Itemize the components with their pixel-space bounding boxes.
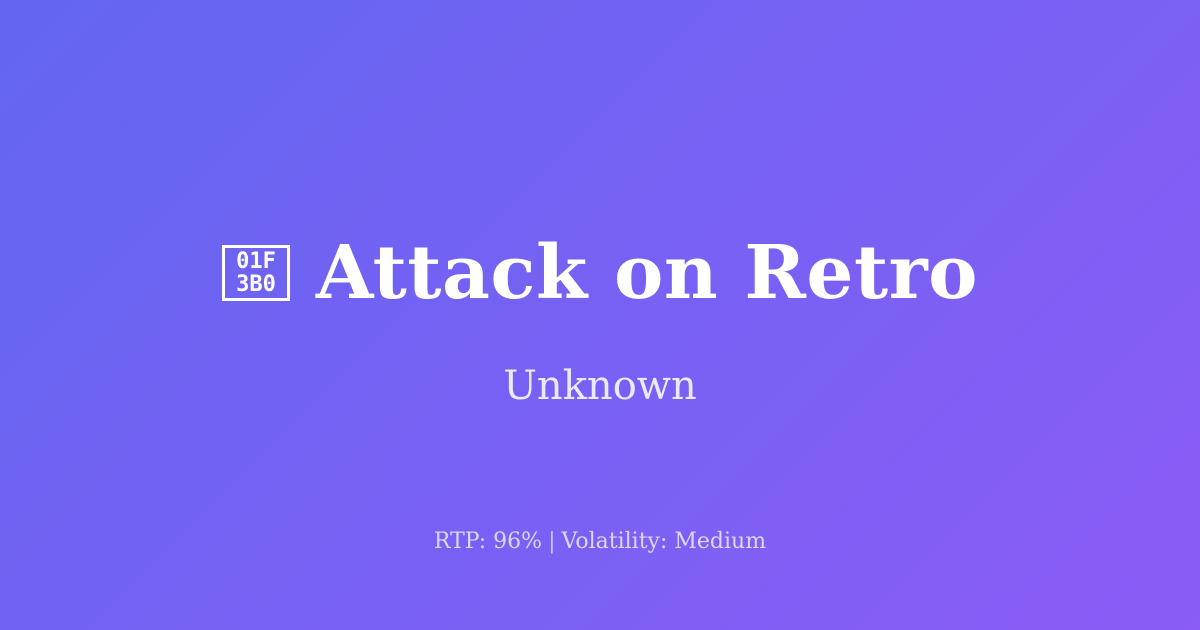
page-title: Attack on Retro <box>316 236 978 310</box>
rtp-value: RTP: 96% <box>434 529 542 554</box>
title-row: 01F 3B0 Attack on Retro <box>0 236 1200 310</box>
provider-label: Unknown <box>0 362 1200 410</box>
game-og-card: 01F 3B0 Attack on Retro Unknown RTP: 96%… <box>0 0 1200 630</box>
slot-machine-icon: 01F 3B0 <box>222 245 290 301</box>
tofu-codepoint-bottom: 3B0 <box>236 273 276 296</box>
volatility-value: Volatility: Medium <box>562 529 767 554</box>
game-meta: RTP: 96%|Volatility: Medium <box>0 528 1200 557</box>
meta-separator: | <box>542 529 561 554</box>
tofu-codepoint-top: 01F <box>236 250 276 273</box>
